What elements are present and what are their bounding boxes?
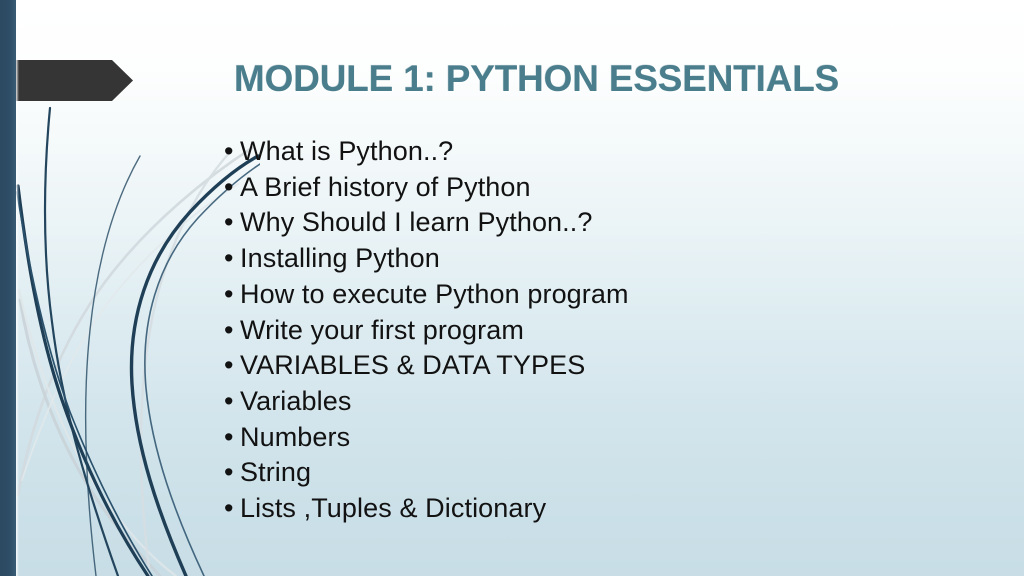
slide-bullet-list: • What is Python..? • A Brief history of… xyxy=(224,134,964,527)
list-item: • VARIABLES & DATA TYPES xyxy=(224,348,964,384)
bullet-marker-icon: • xyxy=(224,348,240,384)
slide-canvas: MODULE 1: PYTHON ESSENTIALS • What is Py… xyxy=(0,0,1024,576)
bullet-marker-icon: • xyxy=(224,313,240,349)
left-edge-bar xyxy=(0,0,16,576)
list-item-label: VARIABLES & DATA TYPES xyxy=(240,350,585,380)
list-item: • A Brief history of Python xyxy=(224,170,964,206)
list-item-label: Write your first program xyxy=(240,315,524,345)
bullet-marker-icon: • xyxy=(224,491,240,527)
list-item-label: Why Should I learn Python..? xyxy=(240,207,593,237)
list-item-label: How to execute Python program xyxy=(240,279,629,309)
slide-title: MODULE 1: PYTHON ESSENTIALS xyxy=(234,56,994,102)
list-item-label: Numbers xyxy=(240,422,350,452)
list-item: • Numbers xyxy=(224,420,964,456)
bullet-marker-icon: • xyxy=(224,205,240,241)
left-edge-bar-highlight xyxy=(16,0,19,576)
list-item: • Installing Python xyxy=(224,241,964,277)
list-item: • What is Python..? xyxy=(224,134,964,170)
list-item: • Why Should I learn Python..? xyxy=(224,205,964,241)
list-item: • Variables xyxy=(224,384,964,420)
list-item-label: Installing Python xyxy=(240,243,440,273)
bullet-marker-icon: • xyxy=(224,277,240,313)
bullet-marker-icon: • xyxy=(224,134,240,170)
bullet-marker-icon: • xyxy=(224,384,240,420)
bullet-marker-icon: • xyxy=(224,241,240,277)
list-item: • How to execute Python program xyxy=(224,277,964,313)
list-item: • Write your first program xyxy=(224,313,964,349)
list-item: • Lists ,Tuples & Dictionary xyxy=(224,491,964,527)
bullet-marker-icon: • xyxy=(224,170,240,206)
list-item-label: A Brief history of Python xyxy=(240,172,531,202)
list-item-label: String xyxy=(240,457,311,487)
list-item: • String xyxy=(224,455,964,491)
list-item-label: What is Python..? xyxy=(240,136,453,166)
bullet-marker-icon: • xyxy=(224,420,240,456)
arrow-banner-shape xyxy=(0,60,133,101)
list-item-label: Variables xyxy=(240,386,351,416)
list-item-label: Lists ,Tuples & Dictionary xyxy=(240,493,546,523)
bullet-marker-icon: • xyxy=(224,455,240,491)
